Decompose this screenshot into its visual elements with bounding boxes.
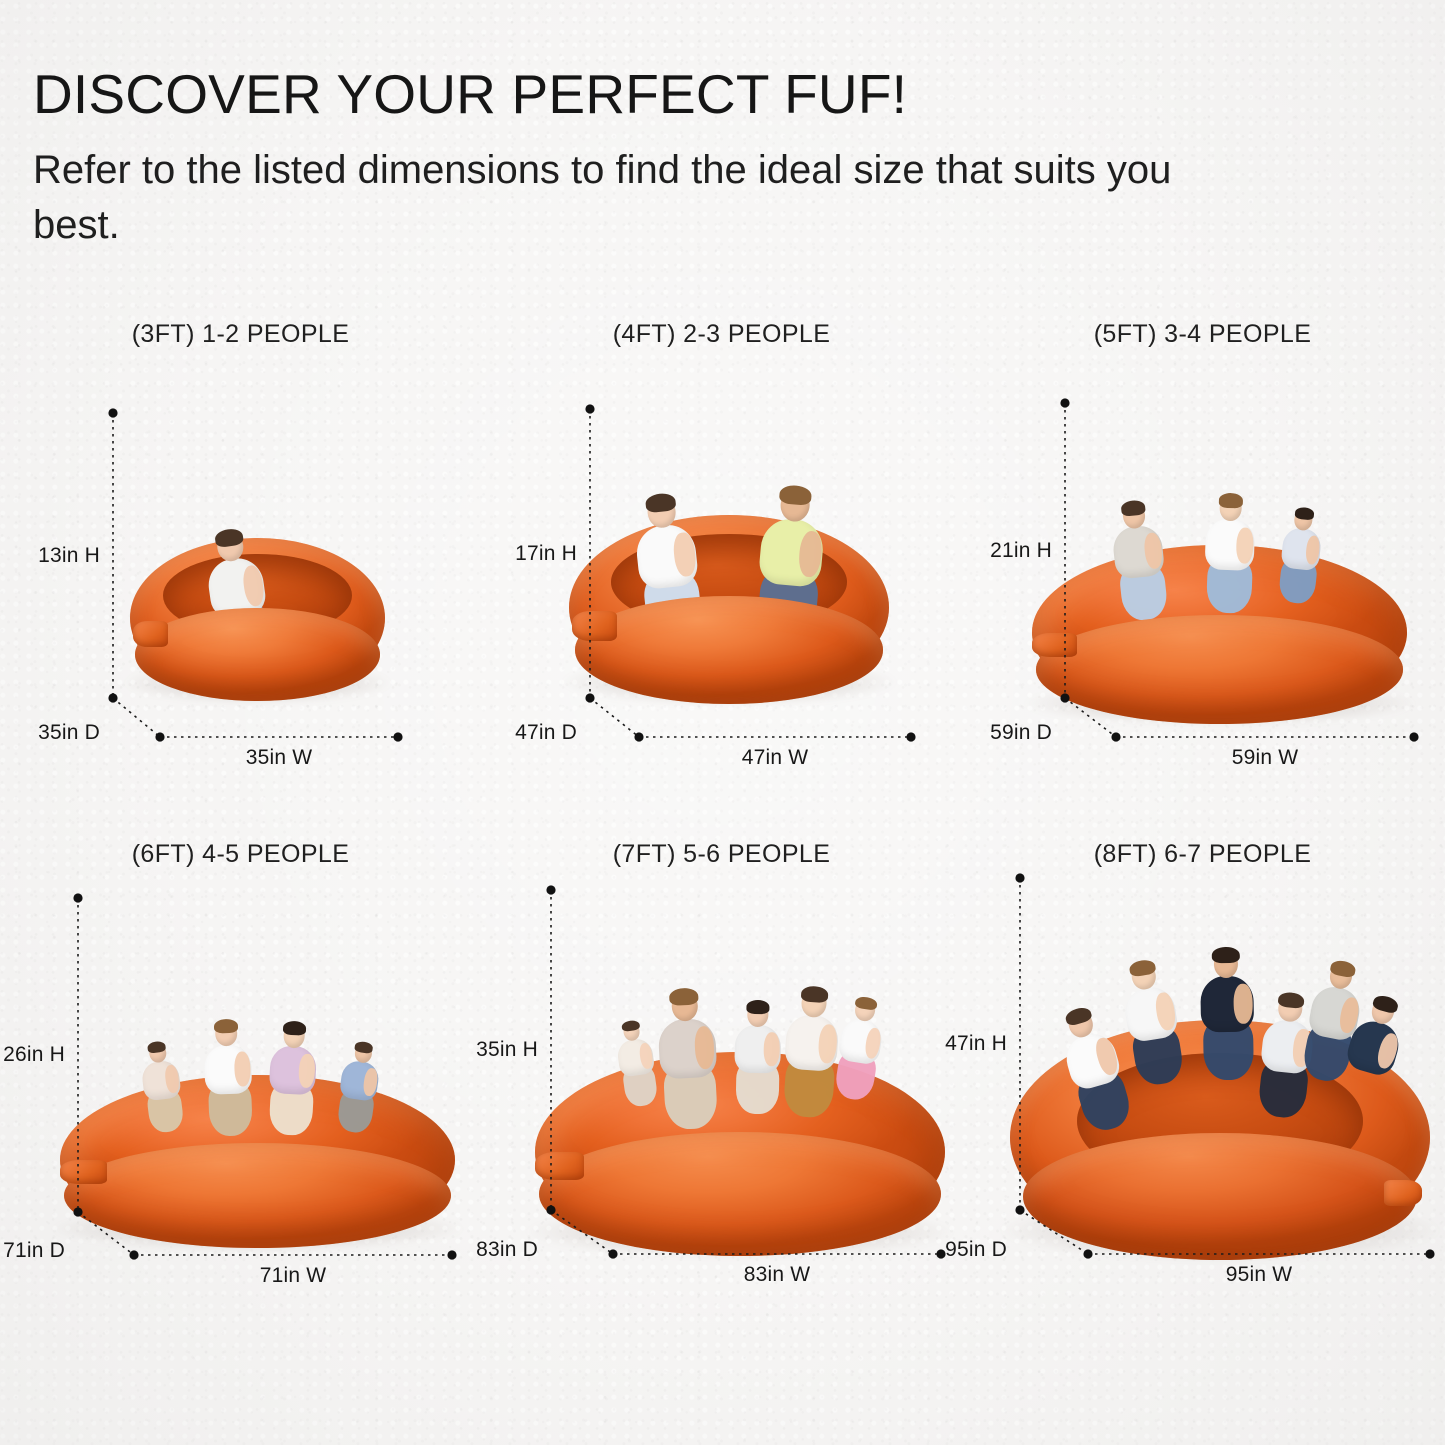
product-stage-8ft: 47in H95in D95in W	[962, 820, 1443, 1340]
depth-line	[113, 698, 160, 737]
product-stage-6ft: 26in H71in D71in W	[0, 820, 481, 1340]
header: DISCOVER YOUR PERFECT FUF! Refer to the …	[33, 63, 1293, 253]
height-bottom-marker	[585, 693, 594, 702]
width-label: 71in W	[260, 1264, 327, 1288]
height-bottom-marker	[1060, 693, 1069, 702]
depth-end-marker	[155, 732, 164, 741]
depth-end-marker	[634, 732, 643, 741]
product-card-4ft[interactable]: (4FT) 2-3 PEOPLE 17in H47in D47in W	[481, 300, 962, 820]
height-label: 47in H	[945, 1032, 1007, 1056]
depth-line	[1065, 698, 1116, 737]
depth-label: 47in D	[515, 721, 577, 745]
width-label: 47in W	[742, 746, 809, 770]
height-top-marker	[1015, 873, 1024, 882]
product-row-bottom: (6FT) 4-5 PEOPLE 26in H71in D71in W (7FT…	[0, 820, 1445, 1340]
height-bottom-marker	[546, 1205, 555, 1214]
height-top-marker	[1060, 398, 1069, 407]
dimension-callout	[0, 820, 481, 1340]
product-card-6ft[interactable]: (6FT) 4-5 PEOPLE 26in H71in D71in W	[0, 820, 481, 1340]
dimension-callout	[481, 820, 962, 1340]
product-stage-3ft: 13in H35in D35in W	[0, 300, 481, 820]
product-card-5ft[interactable]: (5FT) 3-4 PEOPLE 21in H59in D59in W	[962, 300, 1443, 820]
depth-line	[1020, 1210, 1088, 1254]
height-label: 21in H	[990, 539, 1052, 563]
height-label: 26in H	[3, 1043, 65, 1067]
product-stage-7ft: 35in H83in D83in W	[481, 820, 962, 1340]
height-top-marker	[585, 404, 594, 413]
height-label: 17in H	[515, 542, 577, 566]
width-end-marker	[906, 732, 915, 741]
depth-label: 35in D	[38, 721, 100, 745]
depth-line	[78, 1212, 134, 1255]
depth-line	[551, 1210, 613, 1254]
depth-line	[590, 698, 639, 737]
width-label: 59in W	[1232, 746, 1299, 770]
width-label: 35in W	[246, 746, 313, 770]
page-subtitle: Refer to the listed dimensions to find t…	[33, 143, 1213, 253]
page-title: DISCOVER YOUR PERFECT FUF!	[33, 63, 1293, 125]
depth-end-marker	[608, 1249, 617, 1258]
product-card-8ft[interactable]: (8FT) 6-7 PEOPLE 47in H95in D95in W	[962, 820, 1443, 1340]
height-label: 35in H	[476, 1038, 538, 1062]
width-end-marker	[1425, 1249, 1434, 1258]
product-stage-5ft: 21in H59in D59in W	[962, 300, 1443, 820]
product-card-3ft[interactable]: (3FT) 1-2 PEOPLE 13in H35in D35in W	[0, 300, 481, 820]
dimension-callout	[962, 820, 1443, 1340]
depth-end-marker	[1083, 1249, 1092, 1258]
height-label: 13in H	[38, 544, 100, 568]
width-label: 95in W	[1226, 1263, 1293, 1287]
width-end-marker	[393, 732, 402, 741]
height-bottom-marker	[108, 693, 117, 702]
height-top-marker	[546, 885, 555, 894]
width-label: 83in W	[744, 1263, 811, 1287]
depth-label: 95in D	[945, 1238, 1007, 1262]
height-bottom-marker	[73, 1207, 82, 1216]
product-stage-4ft: 17in H47in D47in W	[481, 300, 962, 820]
width-end-marker	[1409, 732, 1418, 741]
height-top-marker	[73, 893, 82, 902]
product-card-7ft[interactable]: (7FT) 5-6 PEOPLE 35in H83in D83in W	[481, 820, 962, 1340]
depth-label: 83in D	[476, 1238, 538, 1262]
product-row-top: (3FT) 1-2 PEOPLE 13in H35in D35in W (4FT…	[0, 300, 1445, 820]
product-size-grid: (3FT) 1-2 PEOPLE 13in H35in D35in W (4FT…	[0, 300, 1445, 1340]
height-top-marker	[108, 408, 117, 417]
depth-label: 71in D	[3, 1239, 65, 1263]
height-bottom-marker	[1015, 1205, 1024, 1214]
depth-label: 59in D	[990, 721, 1052, 745]
depth-end-marker	[129, 1250, 138, 1259]
width-end-marker	[447, 1250, 456, 1259]
depth-end-marker	[1111, 732, 1120, 741]
